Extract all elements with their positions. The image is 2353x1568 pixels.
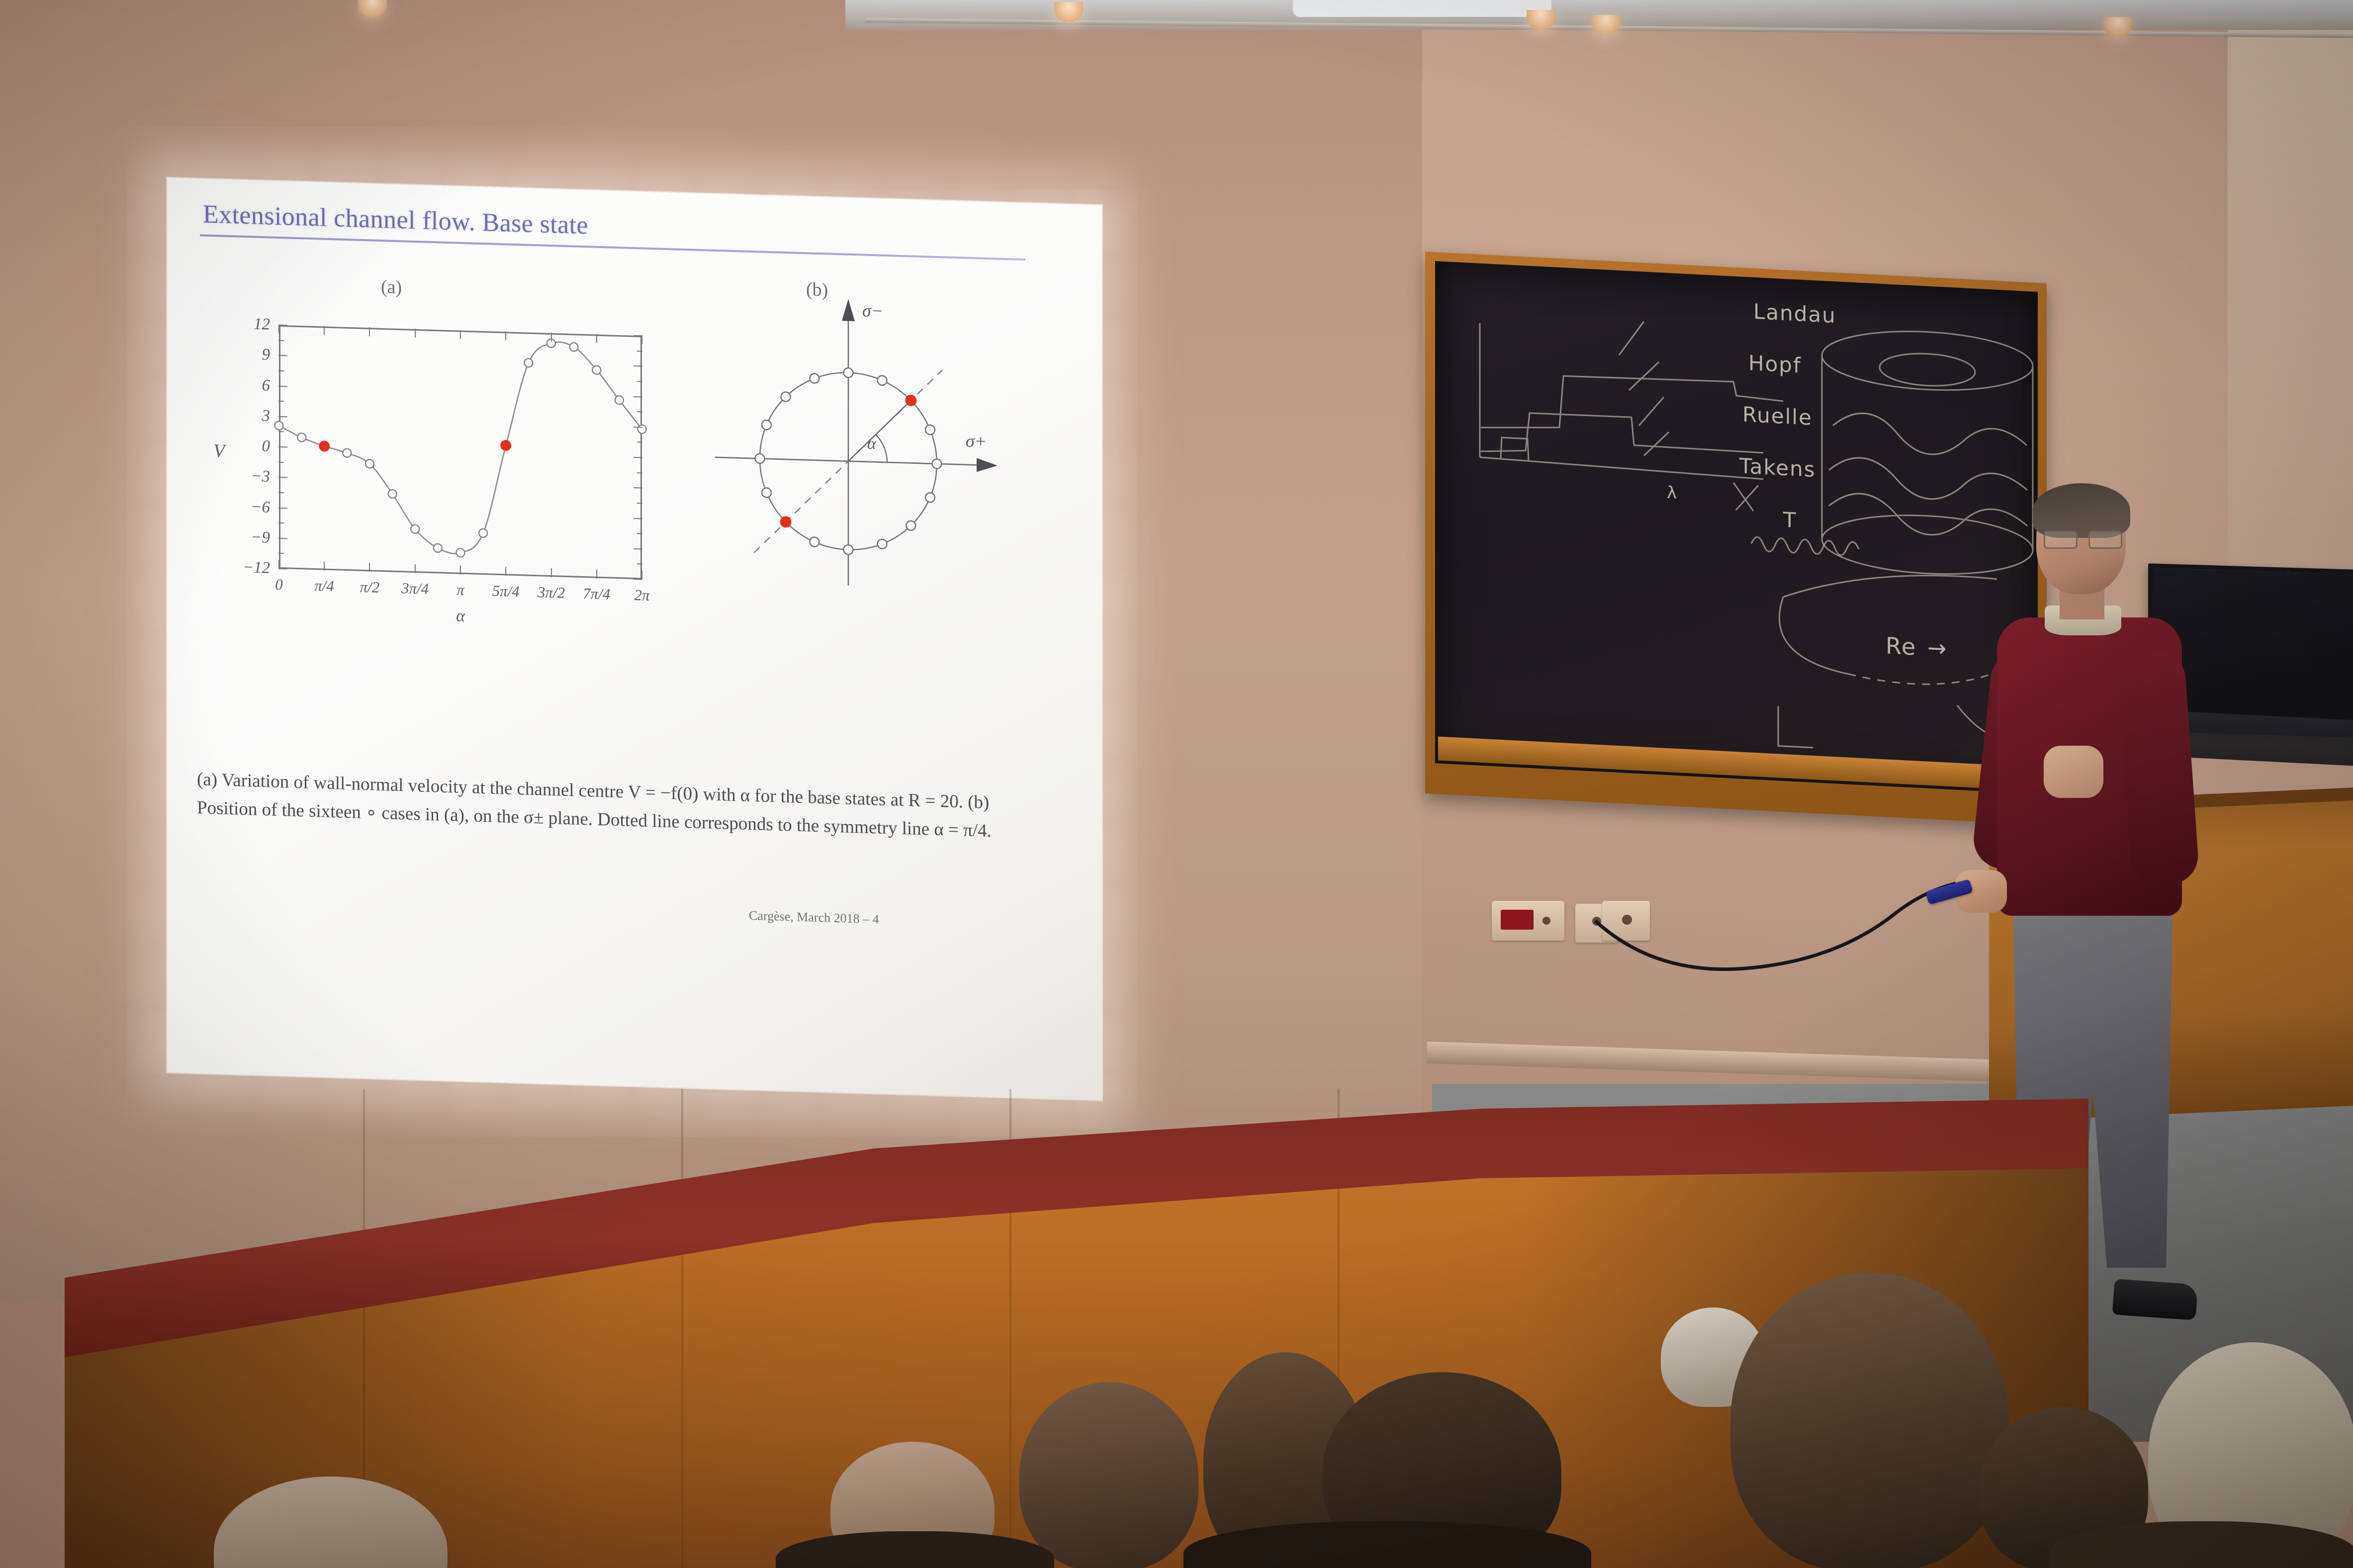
y-axis-minor-tick (278, 523, 284, 523)
data-point-marker (365, 459, 374, 468)
x-axis-tick (324, 562, 325, 571)
state-marker (781, 392, 791, 402)
y-axis-minor-tick (637, 503, 642, 504)
y-axis-minor-tick (278, 462, 284, 463)
y-axis-minor-tick (278, 553, 284, 554)
chart-panel-b: ασ+σ− (709, 288, 988, 605)
highlighted-data-point (319, 440, 330, 452)
audience-head (1730, 1273, 2009, 1568)
y-axis-tick-label: −6 (251, 498, 270, 517)
y-axis-minor-tick (637, 381, 642, 382)
state-marker (844, 545, 853, 555)
y-axis-tick-label: 6 (262, 376, 271, 395)
slide-title-rule (200, 234, 1025, 261)
data-point-marker (297, 433, 306, 442)
y-axis-tick-label: 9 (262, 346, 271, 364)
highlighted-data-point (500, 440, 511, 451)
y-axis-tick-label: −9 (251, 528, 270, 547)
y-axis-tick-label: −12 (243, 558, 270, 578)
glasses-icon (2044, 531, 2119, 546)
y-axis-minor-tick (278, 340, 284, 341)
panel-a-label: (a) (381, 276, 402, 298)
data-point-marker (479, 529, 487, 538)
presenter-hair (2033, 483, 2130, 538)
axis-label-sigma-plus: σ+ (966, 431, 987, 451)
light-switch-plate[interactable] (1492, 901, 1564, 941)
axis-label-alpha: α (456, 607, 465, 626)
state-marker (810, 537, 819, 547)
y-axis-minor-tick (637, 564, 642, 565)
y-axis-tick-label: 12 (254, 315, 270, 334)
x-axis-tick (324, 326, 325, 335)
presenter-hand-raised (2044, 746, 2103, 798)
state-marker (925, 493, 935, 503)
axis-arrow-icon (842, 299, 855, 321)
x-axis-tick-label: 7π/4 (583, 585, 610, 604)
blackboard: Landau Hopf Ruelle Takens T λ Re → (1435, 261, 2038, 794)
y-axis-minor-tick (278, 431, 284, 432)
switch-screw-icon (1542, 917, 1550, 925)
y-axis-minor-tick (637, 533, 642, 534)
x-axis-tick (641, 335, 642, 344)
state-marker (925, 425, 935, 435)
y-axis-tick (278, 568, 287, 570)
y-axis-tick-label: 0 (262, 437, 271, 455)
y-axis-tick-label: 3 (262, 407, 271, 425)
chart-panel-a: V α −12−9−6−30369120π/4π/23π/4π5π/43π/27… (279, 325, 642, 580)
lecture-hall-photo: Extensional channel flow. Base state (a)… (0, 0, 2353, 1568)
slide-footer: Cargèse, March 2018 – 4 (749, 908, 879, 927)
red-switch-indicator[interactable] (1501, 910, 1534, 930)
slide-title: Extensional channel flow. Base state (203, 199, 588, 240)
x-axis-tick (641, 571, 642, 580)
state-marker (762, 488, 771, 498)
slide-caption: (a) Variation of wall-normal velocity at… (197, 765, 1037, 847)
x-axis-tick (415, 564, 416, 573)
x-axis-tick (551, 568, 552, 577)
alpha-arc (876, 435, 887, 462)
state-marker (878, 375, 887, 385)
data-point-marker (275, 421, 283, 430)
data-line (279, 334, 642, 559)
y-axis-minor-tick (637, 442, 642, 443)
x-axis-tick (460, 330, 461, 339)
presenter-shoe-right (2112, 1279, 2198, 1320)
y-axis-minor-tick (637, 472, 642, 473)
data-point-marker (570, 343, 578, 351)
alpha-radius (848, 399, 911, 463)
state-marker (906, 521, 915, 530)
x-axis-tick (596, 570, 597, 579)
x-axis-tick (460, 566, 461, 575)
y-axis-minor-tick (278, 370, 284, 371)
blackboard-wave-sketch (1435, 261, 2037, 794)
x-axis-tick-label: 0 (275, 576, 283, 594)
x-axis-tick (596, 334, 597, 343)
y-axis-tick-label: −3 (251, 467, 270, 486)
y-axis-minor-tick (637, 411, 642, 412)
projection-screen: Extensional channel flow. Base state (a)… (167, 177, 1102, 1100)
x-axis-tick (551, 333, 552, 342)
x-axis-tick (415, 329, 416, 338)
state-marker (878, 539, 887, 549)
axis-label-v: V (213, 440, 225, 462)
y-axis-minor-tick (278, 492, 284, 493)
data-point-marker (388, 490, 397, 499)
x-axis-tick (505, 331, 506, 340)
x-axis-tick (369, 563, 370, 572)
x-axis-tick-label: 5π/4 (492, 582, 520, 601)
data-point-marker (434, 544, 442, 553)
alpha-angle-label: α (867, 435, 877, 453)
data-point-marker (456, 548, 465, 557)
axis-arrow-icon (977, 458, 997, 472)
x-axis-tick-label: 2π (634, 586, 649, 605)
x-axis-tick-label: π/4 (314, 577, 334, 595)
state-marker (932, 459, 942, 469)
x-axis-tick-label: π/2 (360, 578, 380, 597)
sigma-plane-circle: ασ+σ− (709, 288, 988, 605)
data-point-marker (524, 358, 533, 367)
wall-far-right (2228, 0, 2353, 597)
x-axis-tick (505, 567, 506, 576)
data-point-marker (411, 524, 419, 533)
state-marker (762, 420, 771, 430)
state-marker (844, 368, 853, 378)
data-point-marker (592, 365, 601, 374)
state-marker (755, 454, 765, 464)
y-axis-minor-tick (278, 401, 284, 402)
data-point-marker (615, 396, 624, 405)
data-point-marker (343, 448, 351, 457)
axis-label-sigma-minus: σ− (862, 301, 883, 321)
x-axis-tick (278, 325, 279, 334)
state-marker (810, 373, 819, 383)
y-axis-minor-tick (637, 350, 642, 351)
x-axis-tick-label: 3π/4 (401, 579, 429, 598)
curve-v-alpha (279, 325, 642, 580)
x-axis-tick (369, 327, 370, 336)
x-axis-tick (278, 560, 279, 569)
x-axis-tick-label: π (456, 581, 464, 599)
x-axis-tick-label: 3π/2 (538, 583, 565, 602)
audience-head (1019, 1382, 1198, 1568)
